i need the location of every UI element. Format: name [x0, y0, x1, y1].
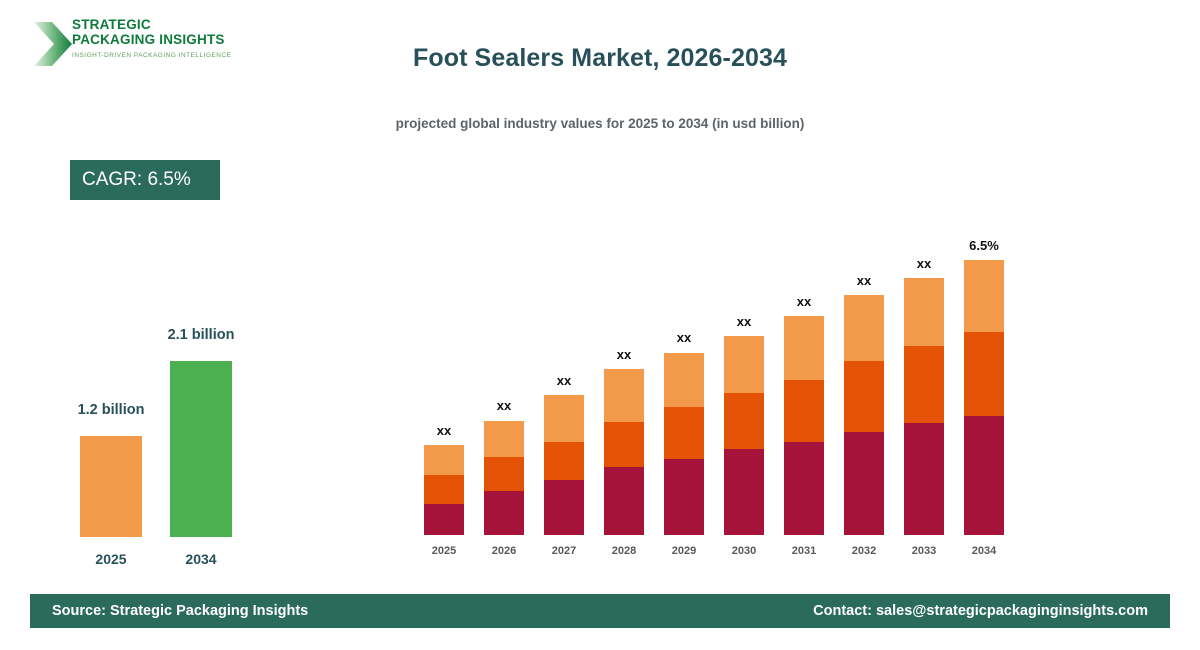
stacked-bar-2027: [544, 395, 584, 535]
stacked-bar-2032: [844, 295, 884, 535]
stacked-bar-2028: [604, 369, 644, 535]
bar-value-label-2028: xx: [604, 347, 644, 362]
bar-segment-segment-top-2027: [544, 395, 584, 442]
cagr-badge: CAGR: 6.5%: [70, 160, 220, 200]
x-axis-tick-2026: 2026: [478, 545, 530, 557]
logo-line-1: STRATEGIC: [72, 18, 272, 33]
stacked-bar-group-2030: xx2030: [724, 195, 764, 560]
bar-segment-segment-top-2026: [484, 421, 524, 457]
bar-segment-segment-top-2029: [664, 353, 704, 407]
x-axis-tick-2028: 2028: [598, 545, 650, 557]
footer-source: Source: Strategic Packaging Insights: [52, 603, 308, 619]
page-title: Foot Sealers Market, 2026-2034: [0, 44, 1200, 73]
stacked-bar-2029: [664, 352, 704, 535]
bar-segment-segment-middle-2033: [904, 346, 944, 423]
bar-segment-segment-top-2025: [424, 445, 464, 475]
comparison-chart: 1.2 billion 2025 2.1 billion 2034: [50, 300, 270, 570]
x-axis-tick-2025: 2025: [418, 545, 470, 557]
stacked-bar-group-2029: xx2029: [664, 195, 704, 560]
x-axis-tick-2027: 2027: [538, 545, 590, 557]
comparison-value-2025: 1.2 billion: [78, 402, 145, 418]
bar-segment-segment-bottom-2030: [724, 449, 764, 535]
bar-value-label-2026: xx: [484, 398, 524, 413]
bar-segment-segment-bottom-2034: [964, 416, 1004, 535]
bar-value-label-2029: xx: [664, 330, 704, 345]
bar-segment-segment-middle-2025: [424, 475, 464, 505]
stacked-bar-2031: [784, 316, 824, 535]
bar-segment-segment-middle-2031: [784, 380, 824, 442]
bar-segment-segment-bottom-2033: [904, 423, 944, 535]
bar-segment-segment-bottom-2026: [484, 491, 524, 535]
bar-value-label-2033: xx: [904, 256, 944, 271]
forecast-stacked-bar-chart: xx2025xx2026xx2027xx2028xx2029xx2030xx20…: [410, 195, 1010, 560]
x-axis-tick-2032: 2032: [838, 545, 890, 557]
bar-segment-segment-top-2032: [844, 295, 884, 361]
bar-segment-segment-bottom-2028: [604, 467, 644, 535]
bar-segment-segment-middle-2029: [664, 407, 704, 459]
comparison-value-2034: 2.1 billion: [168, 327, 235, 343]
bar-segment-segment-middle-2028: [604, 422, 644, 467]
bar-segment-segment-top-2028: [604, 369, 644, 422]
stacked-bar-2030: [724, 336, 764, 535]
bar-value-label-2030: xx: [724, 314, 764, 329]
bar-segment-segment-middle-2034: [964, 332, 1004, 416]
stacked-bar-group-2027: xx2027: [544, 195, 584, 560]
bar-value-label-2025: xx: [424, 423, 464, 438]
bar-value-label-2034: 6.5%: [964, 238, 1004, 253]
bar-segment-segment-top-2030: [724, 336, 764, 393]
stacked-bar-2034: [964, 260, 1004, 535]
stacked-bar-2025: [424, 445, 464, 535]
bar-segment-segment-bottom-2029: [664, 459, 704, 535]
bar-segment-segment-middle-2030: [724, 393, 764, 449]
bar-value-label-2027: xx: [544, 373, 584, 388]
bar-segment-segment-middle-2026: [484, 457, 524, 491]
bar-segment-segment-bottom-2025: [424, 504, 464, 535]
stacked-bar-group-2028: xx2028: [604, 195, 644, 560]
stacked-bar-2026: [484, 420, 524, 535]
x-axis-tick-2031: 2031: [778, 545, 830, 557]
footer-bar: Source: Strategic Packaging Insights Con…: [30, 594, 1170, 628]
x-axis-tick-2029: 2029: [658, 545, 710, 557]
stacked-bar-group-2025: xx2025: [424, 195, 464, 560]
comparison-bar-2025: [80, 436, 142, 537]
bar-segment-segment-top-2034: [964, 260, 1004, 332]
page-subtitle: projected global industry values for 202…: [0, 116, 1200, 131]
bar-value-label-2032: xx: [844, 273, 884, 288]
footer-contact: Contact: sales@strategicpackaginginsight…: [813, 603, 1148, 619]
comparison-bar-2034: [170, 361, 232, 537]
bar-value-label-2031: xx: [784, 294, 824, 309]
bar-segment-segment-middle-2027: [544, 442, 584, 480]
stacked-bar-group-2032: xx2032: [844, 195, 884, 560]
bar-segment-segment-bottom-2027: [544, 480, 584, 535]
bar-segment-segment-bottom-2032: [844, 432, 884, 535]
stacked-bar-2033: [904, 278, 944, 535]
stacked-bar-group-2034: 6.5%2034: [964, 195, 1004, 560]
comparison-year-2025: 2025: [80, 551, 142, 567]
bar-segment-segment-middle-2032: [844, 361, 884, 432]
stacked-bar-group-2026: xx2026: [484, 195, 524, 560]
x-axis-tick-2033: 2033: [898, 545, 950, 557]
bar-segment-segment-top-2031: [784, 316, 824, 380]
x-axis-tick-2034: 2034: [958, 545, 1010, 557]
stacked-bar-group-2031: xx2031: [784, 195, 824, 560]
x-axis-tick-2030: 2030: [718, 545, 770, 557]
stacked-bar-group-2033: xx2033: [904, 195, 944, 560]
bar-segment-segment-bottom-2031: [784, 442, 824, 535]
bar-segment-segment-top-2033: [904, 278, 944, 346]
cagr-badge-label: CAGR: 6.5%: [82, 169, 191, 191]
comparison-year-2034: 2034: [170, 551, 232, 567]
